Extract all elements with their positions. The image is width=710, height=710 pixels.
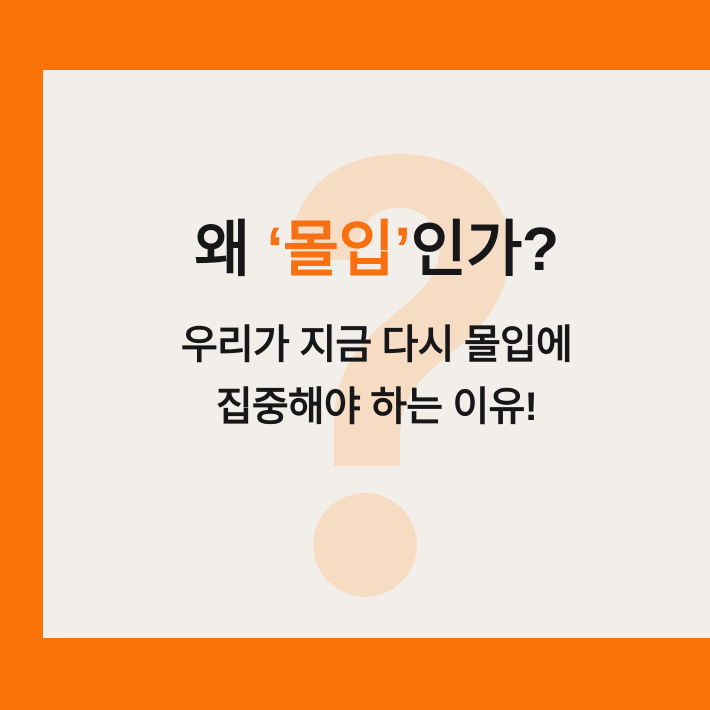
page-subtitle: 우리가 지금 다시 몰입에 집중해야 하는 이유! <box>181 314 572 438</box>
page-title: 왜 ‘몰입’인가? <box>194 218 558 280</box>
title-part-before: 왜 <box>194 215 266 283</box>
content-card: 왜 ‘몰입’인가? 우리가 지금 다시 몰입에 집중해야 하는 이유! <box>43 70 710 638</box>
subtitle-line-1: 우리가 지금 다시 몰입에 <box>181 314 572 376</box>
title-part-after: 인가? <box>411 215 559 283</box>
text-block: 왜 ‘몰입’인가? 우리가 지금 다시 몰입에 집중해야 하는 이유! <box>43 70 710 638</box>
title-accent-word: ‘몰입’ <box>266 215 410 283</box>
poster-canvas: 왜 ‘몰입’인가? 우리가 지금 다시 몰입에 집중해야 하는 이유! <box>0 0 710 710</box>
subtitle-line-2: 집중해야 하는 이유! <box>181 376 572 438</box>
